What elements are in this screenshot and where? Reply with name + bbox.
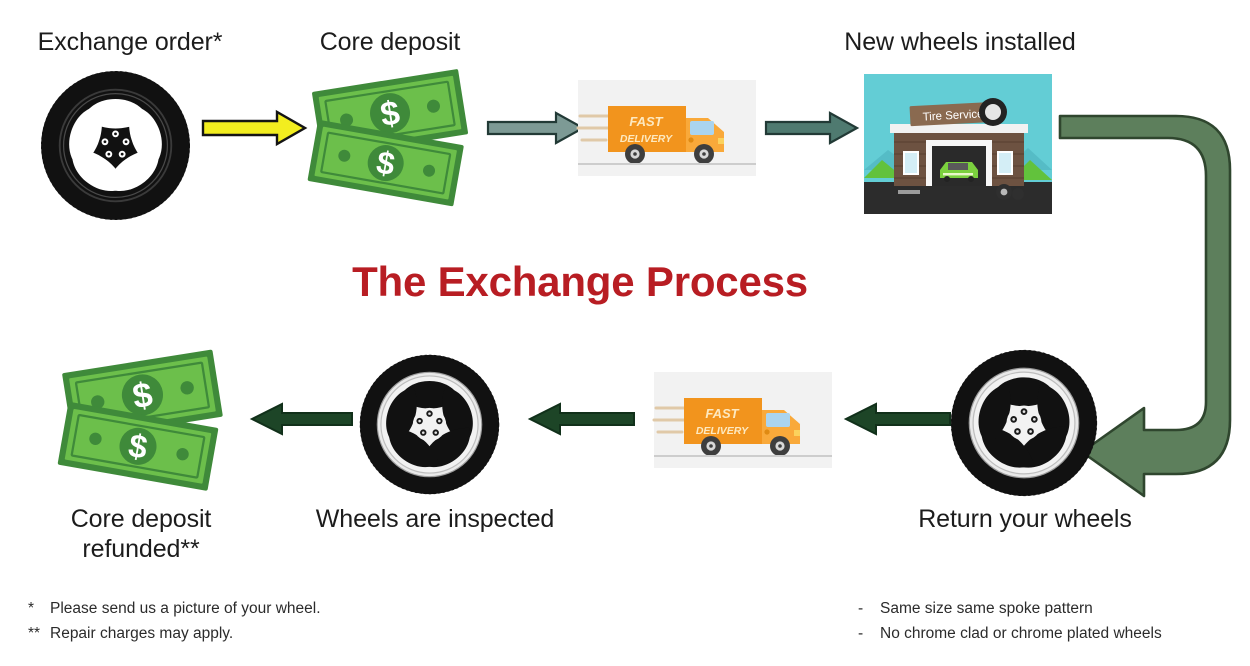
footnote-left-2-mark: ** [28, 621, 50, 646]
step-label-wheels-inspected: Wheels are inspected [290, 505, 580, 535]
footnote-left-2: **Repair charges may apply. [28, 621, 458, 646]
svg-text:DELIVERY: DELIVERY [620, 133, 673, 145]
step-label-new-wheels-installed: New wheels installed [800, 28, 1120, 58]
svg-text:FAST: FAST [629, 114, 663, 129]
svg-text:FAST: FAST [705, 406, 739, 421]
footnote-left-1: *Please send us a picture of your wheel. [28, 596, 458, 621]
arrow-truck-to-garage [764, 110, 860, 146]
cash-banknotes-icon: $ $ [305, 72, 480, 202]
cash-banknotes-icon-refund: $ $ [55, 352, 235, 487]
step-label-core-deposit: Core deposit [285, 28, 495, 58]
footnotes-left: *Please send us a picture of your wheel.… [28, 596, 458, 646]
refund-label-line1: Core deposit [71, 505, 212, 533]
footnote-left-1-text: Please send us a picture of your wheel. [50, 600, 321, 617]
footnote-right-2: -No chrome clad or chrome plated wheels [858, 621, 1250, 646]
fast-delivery-truck-icon-top: FAST DELIVERY [578, 80, 756, 176]
footnote-right-2-mark: - [858, 621, 880, 646]
tire-service-garage-icon: Tire Service [864, 74, 1052, 214]
footnote-right-2-text: No chrome clad or chrome plated wheels [880, 625, 1162, 642]
footnotes-right: -Same size same spoke pattern -No chrome… [858, 596, 1250, 646]
footnote-left-1-mark: * [28, 596, 50, 621]
arrow-return-to-truck [840, 402, 952, 436]
step-label-core-deposit-refunded: Core deposit refunded** [35, 505, 247, 564]
footnote-right-1: -Same size same spoke pattern [858, 596, 1250, 621]
exchange-process-diagram: Exchange order* [0, 0, 1250, 666]
arrow-inspection-to-refund [246, 402, 354, 436]
svg-text:DELIVERY: DELIVERY [696, 425, 749, 437]
footnote-right-1-text: Same size same spoke pattern [880, 600, 1093, 617]
footnote-right-1-mark: - [858, 596, 880, 621]
refund-label-line2: refunded** [82, 535, 199, 563]
arrow-truck-to-inspection [524, 402, 636, 436]
arrow-order-to-deposit [201, 108, 309, 148]
step-label-exchange-order: Exchange order* [10, 28, 250, 58]
fast-delivery-truck-icon-bottom: FAST DELIVERY [654, 372, 832, 468]
black-alloy-wheel-icon [38, 68, 193, 223]
step-label-return-your-wheels: Return your wheels [885, 505, 1165, 535]
footnote-left-2-text: Repair charges may apply. [50, 625, 233, 642]
silver-alloy-wheel-icon-return [948, 347, 1100, 499]
arrow-deposit-to-truck [486, 110, 586, 146]
silver-alloy-wheel-icon-inspected [357, 352, 502, 497]
page-title: The Exchange Process [0, 258, 1160, 306]
